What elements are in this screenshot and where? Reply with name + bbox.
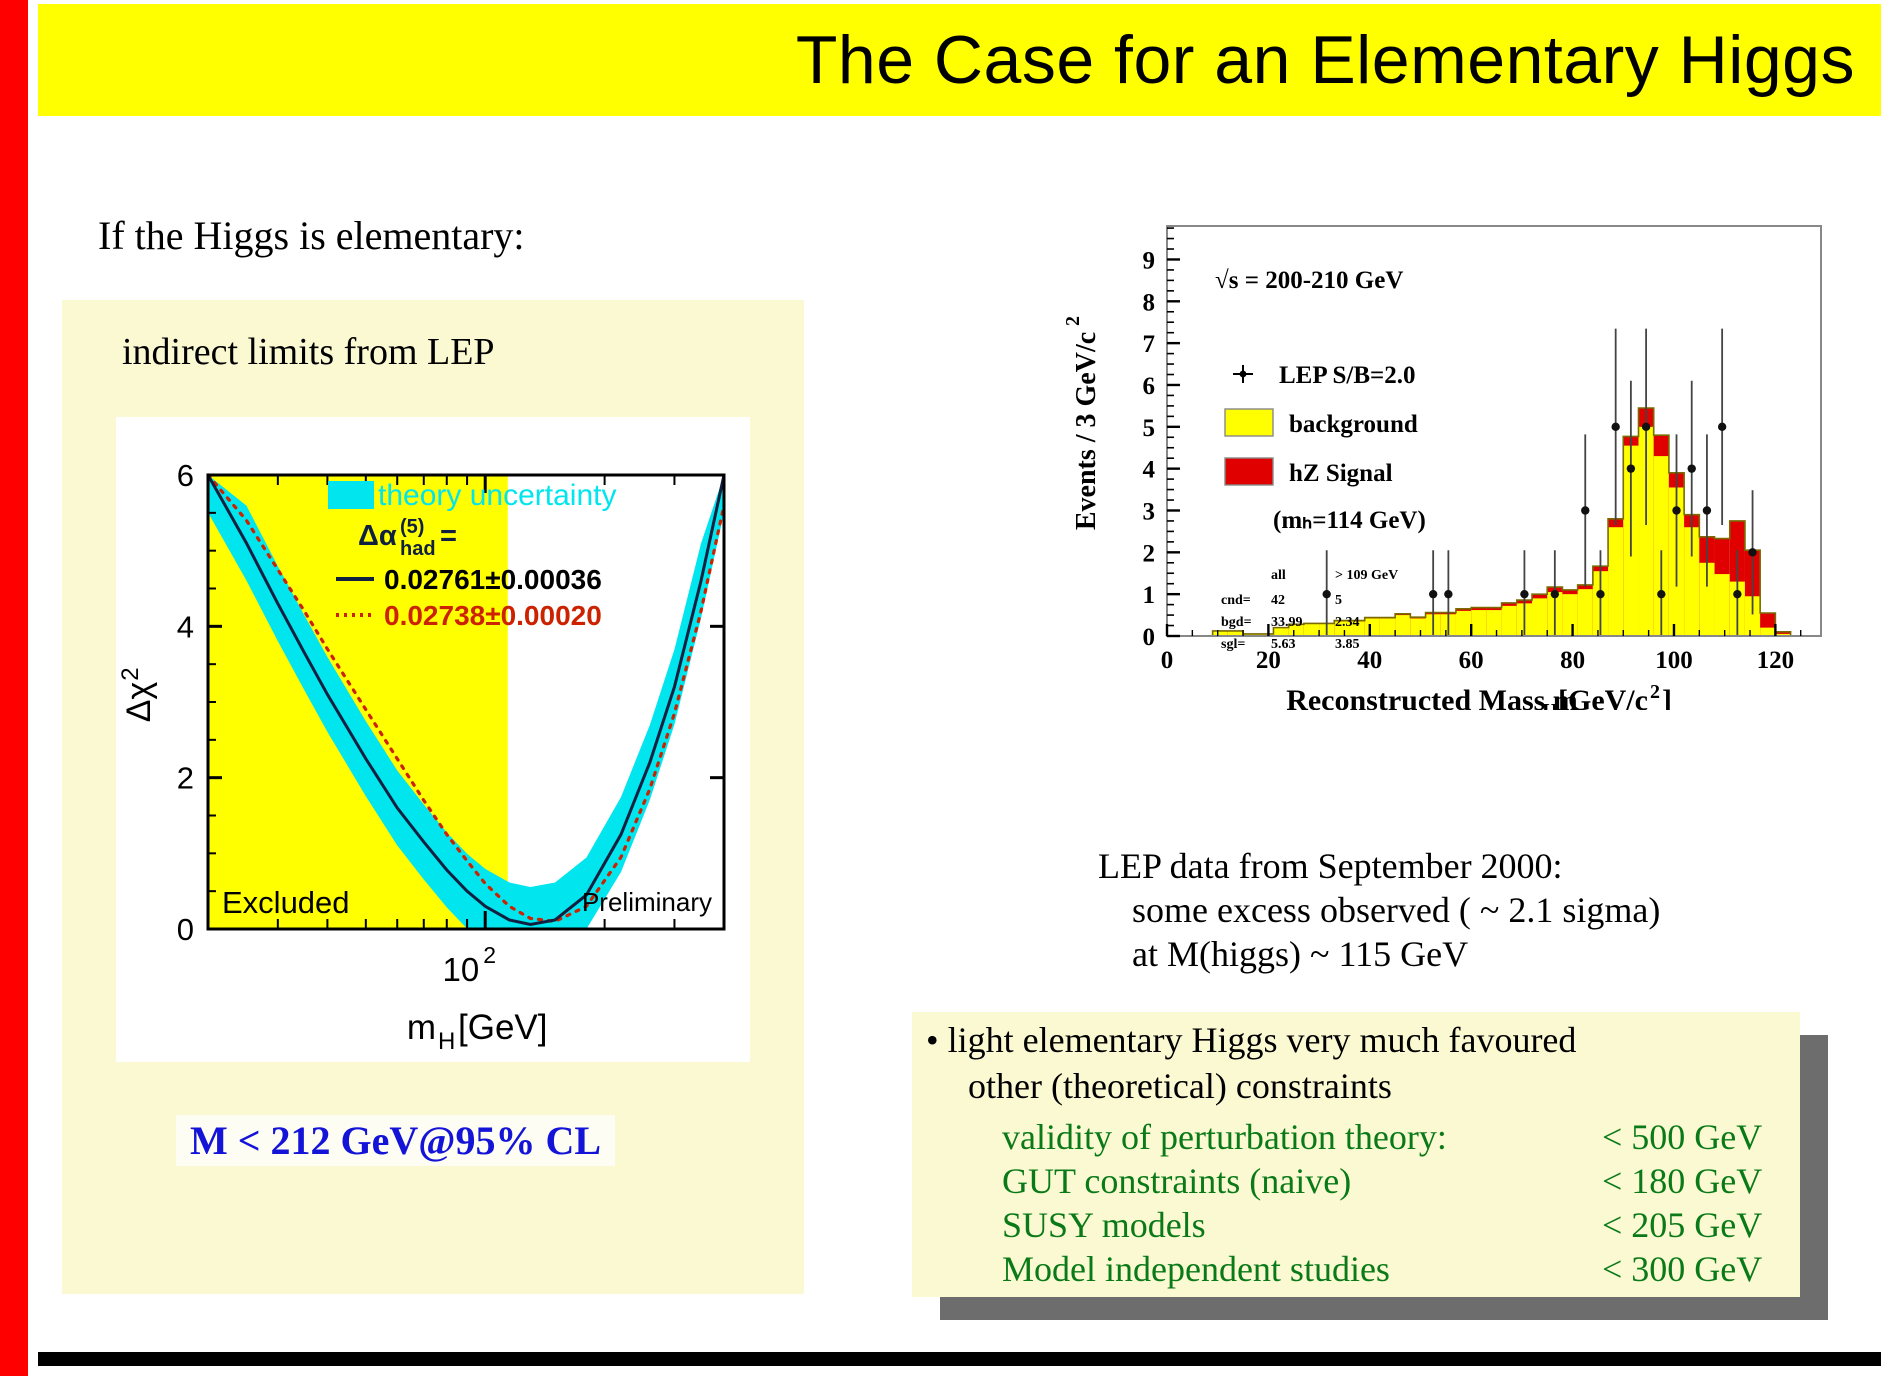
data-point-marker [1642,423,1650,431]
data-point-marker [1688,464,1696,472]
x-tick-label: 40 [1357,647,1382,674]
x-axis-label-units-exponent: 2 [1650,681,1660,703]
histogram-bar-background [1502,606,1517,636]
y-tick-label: 0 [177,912,194,947]
stats-row-label: bgd= [1221,615,1252,630]
data-point-marker [1733,590,1741,598]
histogram-bar-background [1395,615,1410,636]
data-point-marker [1611,423,1619,431]
histogram-bar-background [1578,589,1593,636]
x-tick-label: 0 [1161,647,1174,674]
histogram-bar-background [1532,598,1547,636]
page-title: The Case for an Elementary Higgs [796,21,1881,99]
legend-param-superscript: (5) [400,516,424,538]
lead-statement: If the Higgs is elementary: [98,212,525,259]
y-tick-label: 7 [1143,331,1156,358]
y-axis-label: Events / 3 GeV/c [1071,332,1102,530]
y-tick-label: 6 [1143,373,1156,400]
x-tick-label: 10 [442,951,479,988]
lep-mass-histogram: 0123456789020406080100120Events / 3 GeV/… [1055,200,1845,710]
histogram-bar-background [1380,618,1395,636]
x-axis-label-bracket: ] [1662,684,1672,710]
stats-row-all: 5.63 [1271,637,1296,652]
legend-label-background: background [1289,411,1418,438]
slide-title-band: The Case for an Elementary Higgs [38,4,1881,116]
left-accent-bar [0,0,28,1376]
x-axis-label: Reconstructed Mass m [1286,684,1578,710]
constraint-value: < 205 GeV [1602,1204,1762,1246]
histogram-bar-background [1715,574,1730,636]
histogram-bar-background [1608,527,1623,636]
blueband-chart-container: 0246102Δχ2mH[GeV]ExcludedPreliminarytheo… [116,417,750,1062]
legend-param-subscript: had [400,538,436,560]
constraints-box: • light elementary Higgs very much favou… [912,1012,1800,1297]
left-panel-title: indirect limits from LEP [122,330,495,374]
x-tick-label-exponent: 2 [483,942,496,968]
stats-row-label: cnd= [1221,593,1251,608]
x-tick-label: 60 [1459,647,1484,674]
legend-label-theory-uncertainty: theory uncertainty [378,479,616,512]
constraint-row: SUSY models < 205 GeV [1002,1204,1822,1246]
y-tick-label: 2 [177,761,194,796]
legend-swatch-signal [1225,458,1273,485]
y-tick-label: 2 [1143,540,1156,567]
legend-param-symbol: Δα [358,520,397,552]
legend-value-solid: 0.02761±0.00036 [384,564,602,595]
y-tick-label: 4 [1143,457,1156,484]
data-point-marker [1748,548,1756,556]
bottom-rule [38,1352,1881,1366]
constraint-row: GUT constraints (naive) < 180 GeV [1002,1160,1822,1202]
y-tick-label: 5 [1143,415,1156,442]
y-tick-label: 0 [1143,624,1156,651]
y-tick-label: 1 [1143,582,1156,609]
data-point-marker [1596,590,1604,598]
lep-caption-line2: some excess observed ( ~ 2.1 sigma) [1098,889,1660,933]
blueband-plot-area: 0246102Δχ2mH[GeV]ExcludedPreliminarytheo… [117,458,724,1055]
data-point-marker [1627,464,1635,472]
data-point-marker [1703,506,1711,514]
data-point-marker [1322,590,1330,598]
histogram-bar-background [1365,618,1380,636]
stats-row-high: 3.85 [1335,637,1360,652]
data-point-marker [1718,423,1726,431]
preliminary-label: Preliminary [582,887,712,917]
x-axis-label-group: Reconstructed Mass mH[GeV/c2] [1286,681,1672,710]
stats-row-all: 42 [1271,593,1285,608]
x-tick-label: 100 [1655,647,1693,674]
y-axis-label-exponent: 2 [1062,316,1084,326]
legend-label-data: LEP S/B=2.0 [1279,362,1416,389]
constraint-row: validity of perturbation theory: < 500 G… [1002,1116,1822,1158]
stats-header-high: > 109 GeV [1335,568,1398,583]
y-tick-label: 8 [1143,289,1156,316]
constraint-value: < 300 GeV [1602,1248,1762,1290]
legend-value-dotted: 0.02738±0.00020 [384,600,602,631]
y-tick-label: 3 [1143,498,1156,525]
lep-caption-line3: at M(higgs) ~ 115 GeV [1098,933,1660,977]
x-axis-label-sub: H [1542,699,1558,710]
annotation-signal-mass: (mₕ=114 GeV) [1273,507,1426,534]
constraint-value: < 180 GeV [1602,1160,1762,1202]
constraints-bullet: • light elementary Higgs very much favou… [926,1020,1576,1062]
stats-row-label: sgl= [1221,637,1245,652]
excluded-label: Excluded [222,885,350,920]
lep-plot-area: 0123456789020406080100120Events / 3 GeV/… [1062,226,1821,710]
x-tick-label: 120 [1757,647,1795,674]
lep-histogram-container: 0123456789020406080100120Events / 3 GeV/… [1055,200,1845,710]
histogram-bar-background [1304,623,1319,636]
x-axis-label-sub: H [438,1028,455,1055]
stats-row-high: 5 [1335,593,1342,608]
y-axis-label-exponent: 2 [117,667,144,680]
legend-param-equals: = [440,520,457,552]
legend-swatch-background [1225,409,1273,436]
y-tick-label: 9 [1143,247,1156,274]
data-point-marker [1444,590,1452,598]
stats-row-high: 2.34 [1335,615,1360,630]
legend-marker-point [1240,371,1247,378]
x-tick-label: 80 [1560,647,1585,674]
data-point-marker [1672,506,1680,514]
x-axis-label-units: [GeV] [458,1008,547,1047]
stats-header-all: all [1271,568,1286,583]
histogram-bar-background [1471,610,1486,636]
data-point-marker [1551,590,1559,598]
constraint-label: Model independent studies [1002,1248,1390,1290]
histogram-bar-background [1456,611,1471,636]
legend-label-signal: hZ Signal [1289,460,1393,487]
mass-limit-callout: M < 212 GeV@95% CL [176,1115,615,1166]
legend-swatch-theory-uncertainty [328,481,374,509]
blueband-chart: 0246102Δχ2mH[GeV]ExcludedPreliminarytheo… [116,417,750,1062]
histogram-bar-background [1486,610,1501,636]
x-axis-label: m [407,1008,436,1047]
data-point-marker [1429,590,1437,598]
histogram-bar-background [1410,618,1425,636]
y-tick-label: 4 [177,609,194,644]
lep-caption-line1: LEP data from September 2000: [1098,846,1563,886]
annotation-energy: √s = 200-210 GeV [1215,267,1403,294]
histogram-bar-background [1562,594,1577,636]
constraint-label: validity of perturbation theory: [1002,1116,1447,1158]
constraint-label: SUSY models [1002,1204,1206,1246]
histogram-bar-background [1760,628,1775,636]
data-point-marker [1657,590,1665,598]
constraint-label: GUT constraints (naive) [1002,1160,1351,1202]
data-point-marker [1520,590,1528,598]
constraint-value: < 500 GeV [1602,1116,1762,1158]
y-axis-label: Δχ [120,682,158,723]
stats-row-all: 33.99 [1271,615,1303,630]
lep-caption: LEP data from September 2000: some exces… [1098,845,1660,977]
constraints-subline: other (theoretical) constraints [968,1066,1392,1108]
x-axis-label-units: [GeV/c [1558,684,1648,710]
constraint-row: Model independent studies < 300 GeV [1002,1248,1822,1290]
y-tick-label: 6 [177,458,194,493]
data-point-marker [1581,506,1589,514]
